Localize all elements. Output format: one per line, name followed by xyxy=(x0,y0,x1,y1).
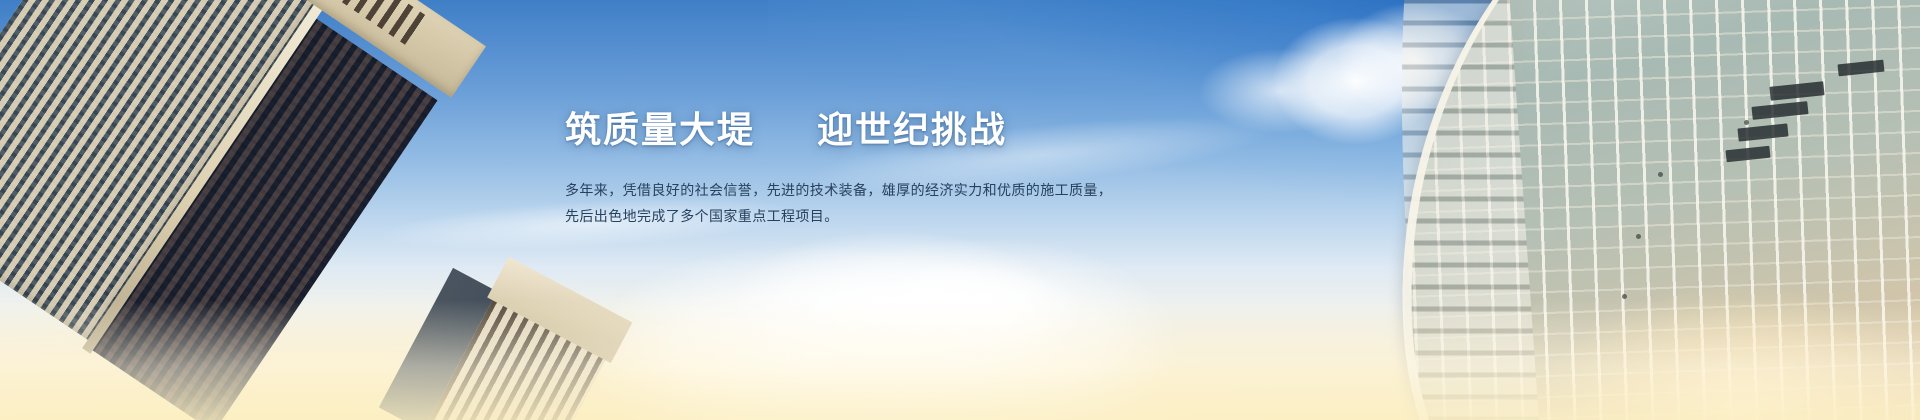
hero-banner: 筑质量大堤 迎世纪挑战 多年来，凭借良好的社会信誉，先进的技术装备，雄厚的经济实… xyxy=(0,0,1920,420)
banner-copy-block: 筑质量大堤 迎世纪挑战 多年来，凭借良好的社会信誉，先进的技术装备，雄厚的经济实… xyxy=(565,108,1105,229)
subcopy-line-2: 先后出色地完成了多个国家重点工程项目。 xyxy=(565,203,1105,229)
banner-subcopy: 多年来，凭借良好的社会信誉，先进的技术装备，雄厚的经济实力和优质的施工质量， 先… xyxy=(565,177,1105,229)
headline-part-2: 迎世纪挑战 xyxy=(817,109,1007,150)
subcopy-line-1: 多年来，凭借良好的社会信誉，先进的技术装备，雄厚的经济实力和优质的施工质量， xyxy=(565,177,1105,203)
glass-tower-anchor-dot xyxy=(1636,234,1641,239)
banner-headline: 筑质量大堤 迎世纪挑战 xyxy=(565,108,1105,151)
glass-tower-anchor-dot xyxy=(1622,294,1627,299)
glass-tower-anchor-dot xyxy=(1744,120,1749,125)
glass-tower-anchor-dot xyxy=(1658,172,1663,177)
headline-part-1: 筑质量大堤 xyxy=(565,109,755,150)
bottom-warm-haze xyxy=(0,300,1920,420)
